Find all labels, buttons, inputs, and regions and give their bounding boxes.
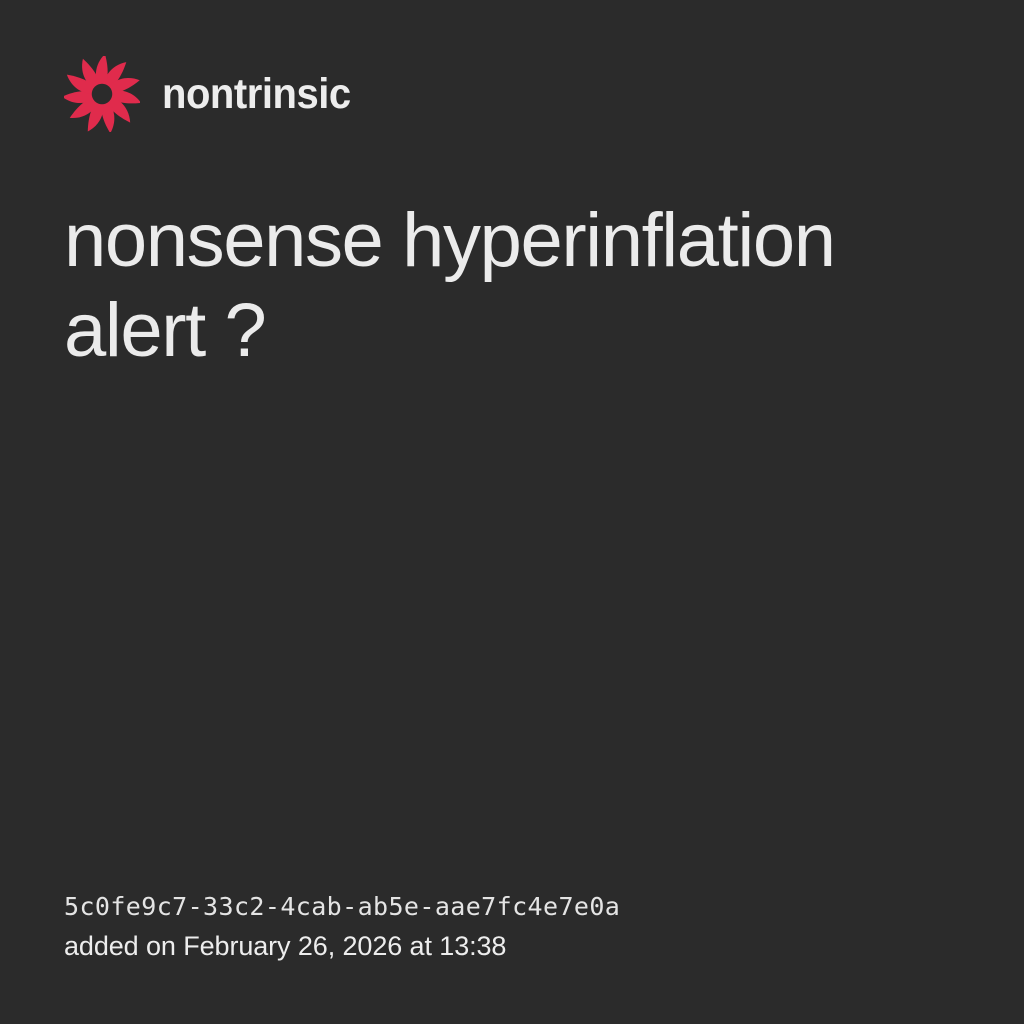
post-headline: nonsense hyperinflation alert ? — [64, 196, 904, 377]
swirl-pinwheel-icon — [64, 56, 140, 132]
post-id: 5c0fe9c7-33c2-4cab-ab5e-aae7fc4e7e0a — [64, 890, 620, 923]
post-card: nontrinsic nonsense hyperinflation alert… — [0, 0, 1024, 1024]
post-footer: 5c0fe9c7-33c2-4cab-ab5e-aae7fc4e7e0a add… — [64, 890, 620, 964]
brand-header[interactable]: nontrinsic — [64, 56, 365, 132]
brand-wordmark: nontrinsic — [162, 73, 351, 116]
post-added-date: added on February 26, 2026 at 13:38 — [64, 929, 620, 964]
